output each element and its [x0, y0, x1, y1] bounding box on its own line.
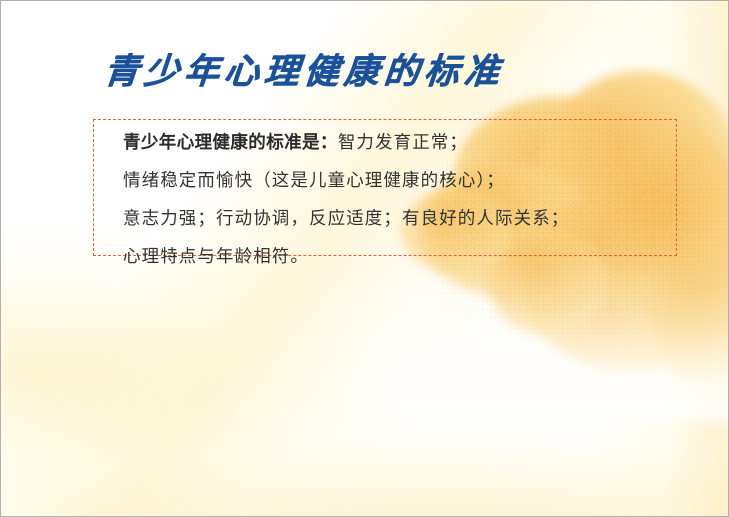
- body-text-block: 青少年心理健康的标准是：智力发育正常； 情绪稳定而愉快（这是儿童心理健康的核心）…: [123, 124, 671, 276]
- watercolor-blob-bottom-fade: [391, 251, 729, 421]
- body-line-1-text: 智力发育正常；: [338, 133, 468, 153]
- body-line-2: 情绪稳定而愉快（这是儿童心理健康的核心）；: [123, 162, 671, 200]
- slide-canvas: 青少年心理健康的标准 青少年心理健康的标准是：智力发育正常； 情绪稳定而愉快（这…: [0, 0, 729, 517]
- body-line-1: 青少年心理健康的标准是：智力发育正常；: [123, 124, 671, 162]
- slide-title: 青少年心理健康的标准: [102, 50, 506, 94]
- body-line-4: 心理特点与年龄相符。: [123, 238, 671, 276]
- body-line-3: 意志力强；行动协调，反应适度；有良好的人际关系；: [123, 200, 671, 238]
- body-lead-phrase: 青少年心理健康的标准是：: [123, 133, 338, 153]
